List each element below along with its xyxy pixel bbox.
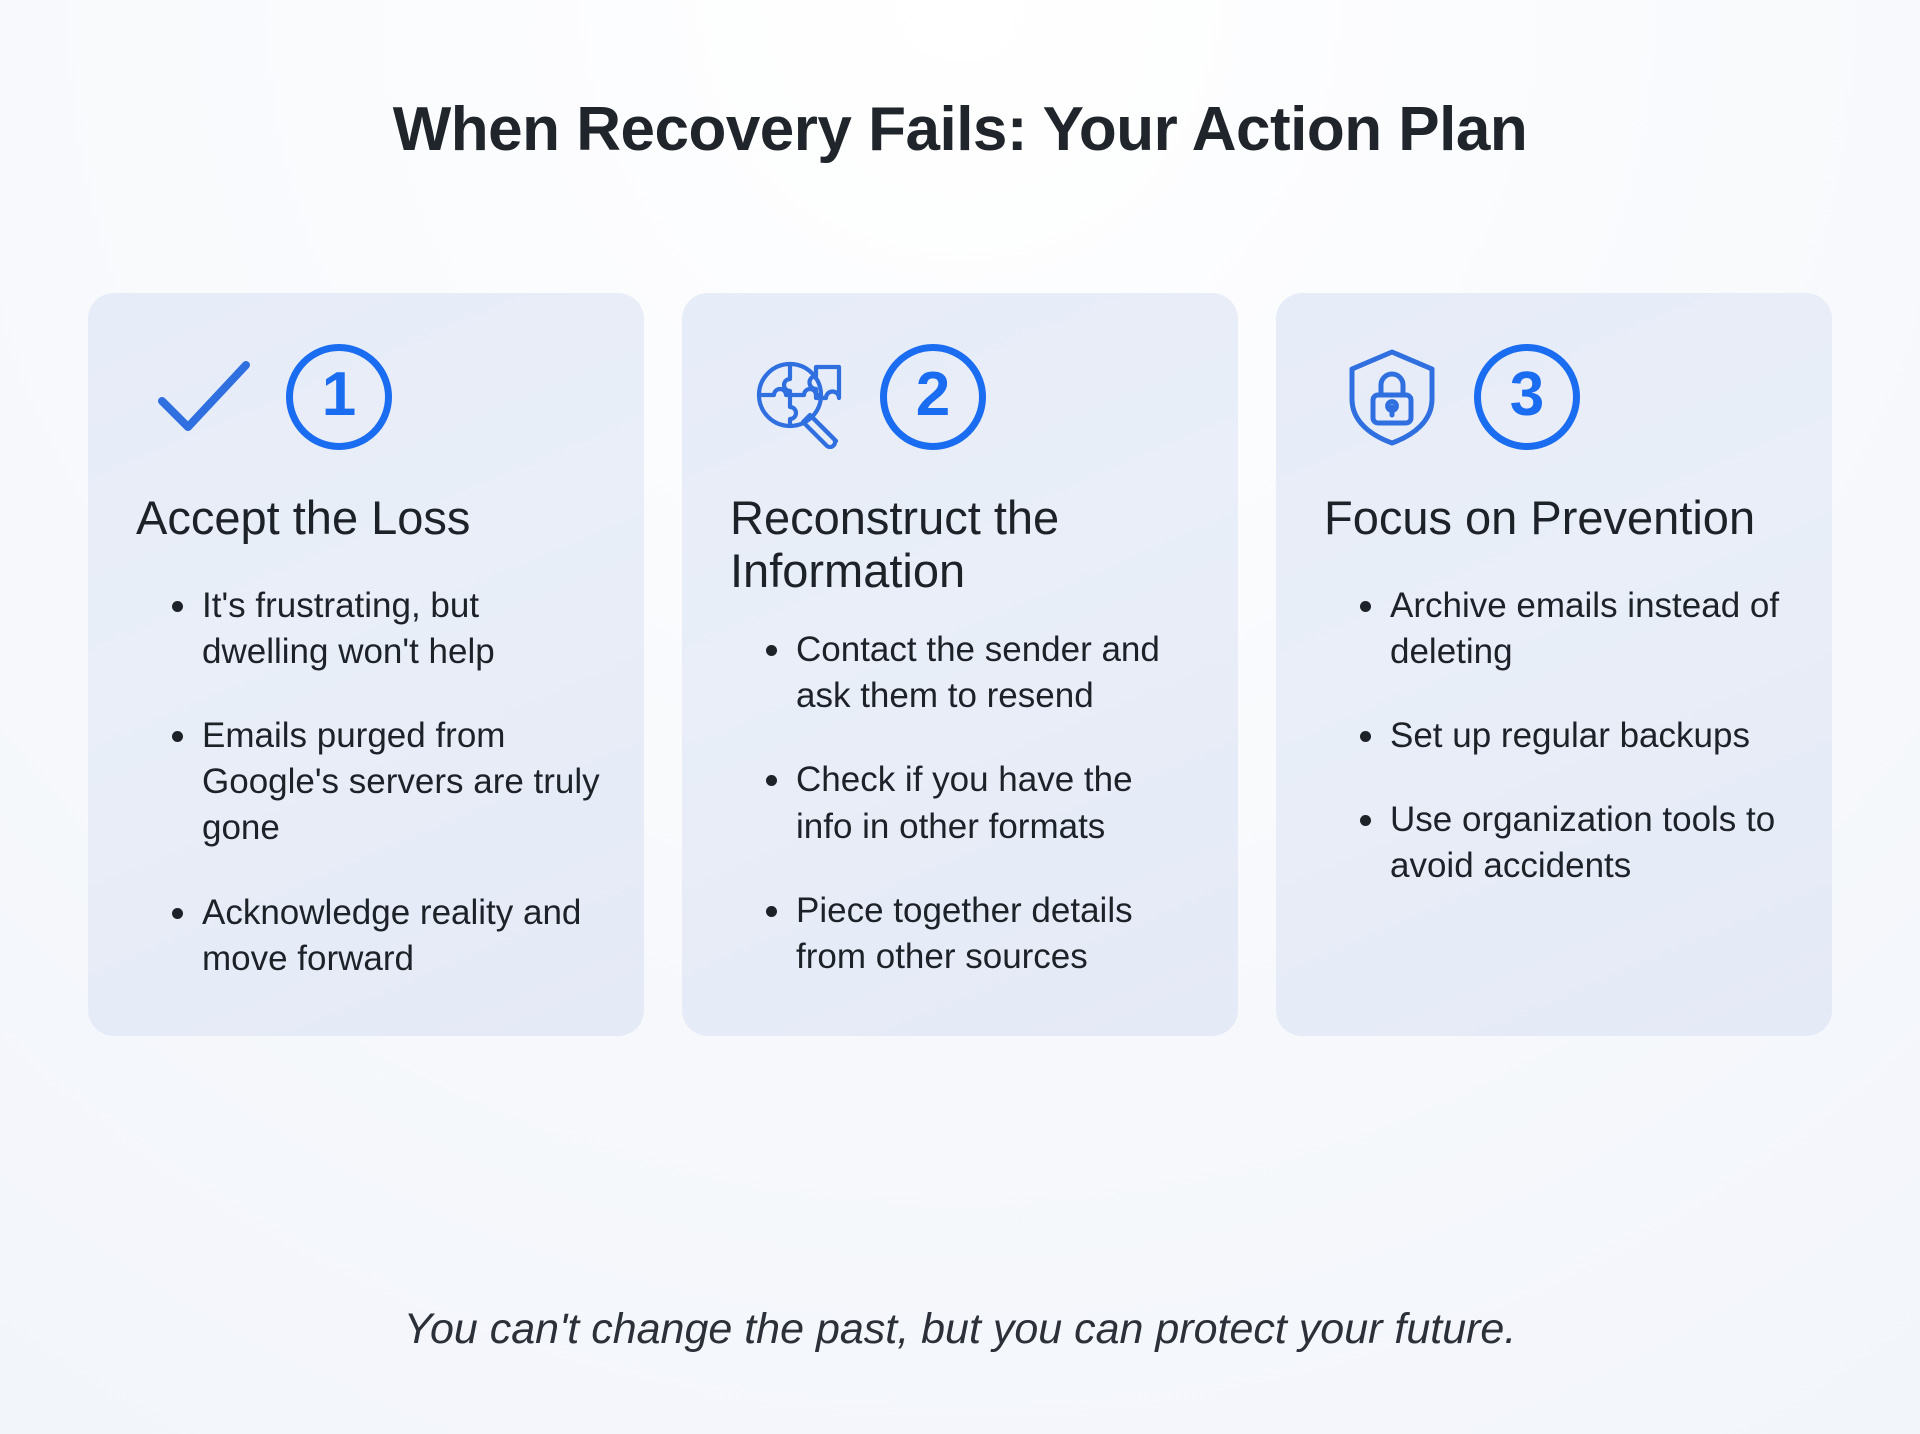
puzzle-magnifier-icon [746,345,850,449]
card-header: 1 [132,339,600,455]
step-number-badge: 2 [880,344,986,450]
shield-lock-icon [1340,345,1444,449]
step-number: 3 [1510,364,1544,426]
list-item: Use organization tools to avoid accident… [1360,797,1788,889]
card-title: Focus on Prevention [1320,491,1788,553]
card-bullet-list: Contact the sender and ask them to resen… [726,627,1194,980]
card-bullet-list: It's frustrating, but dwelling won't hel… [132,583,600,982]
card-header: 3 [1320,339,1788,455]
footer-note: You can't change the past, but you can p… [0,1305,1920,1354]
list-item: Emails purged from Google's servers are … [172,713,600,852]
card-bullet-list: Archive emails instead of deleting Set u… [1320,583,1788,890]
infographic-page: When Recovery Fails: Your Action Plan 1 … [0,0,1920,1434]
list-item: Piece together details from other source… [766,888,1194,980]
list-item: It's frustrating, but dwelling won't hel… [172,583,600,675]
step-number: 2 [916,364,950,426]
page-title: When Recovery Fails: Your Action Plan [393,96,1528,164]
card-title: Accept the Loss [132,491,600,553]
card-header: 2 [726,339,1194,455]
card-reconstruct-the-information: 2 Reconstruct the Information Contact th… [682,293,1238,1036]
card-title: Reconstruct the Information [726,491,1194,597]
step-number: 1 [322,364,356,426]
list-item: Acknowledge reality and move forward [172,890,600,982]
list-item: Set up regular backups [1360,713,1788,759]
cards-container: 1 Accept the Loss It's frustrating, but … [75,293,1845,1036]
list-item: Check if you have the info in other form… [766,757,1194,849]
step-number-badge: 3 [1474,344,1580,450]
list-item: Contact the sender and ask them to resen… [766,627,1194,719]
card-accept-the-loss: 1 Accept the Loss It's frustrating, but … [88,293,644,1036]
list-item: Archive emails instead of deleting [1360,583,1788,675]
card-focus-on-prevention: 3 Focus on Prevention Archive emails ins… [1276,293,1832,1036]
step-number-badge: 1 [286,344,392,450]
checkmark-icon [152,345,256,449]
